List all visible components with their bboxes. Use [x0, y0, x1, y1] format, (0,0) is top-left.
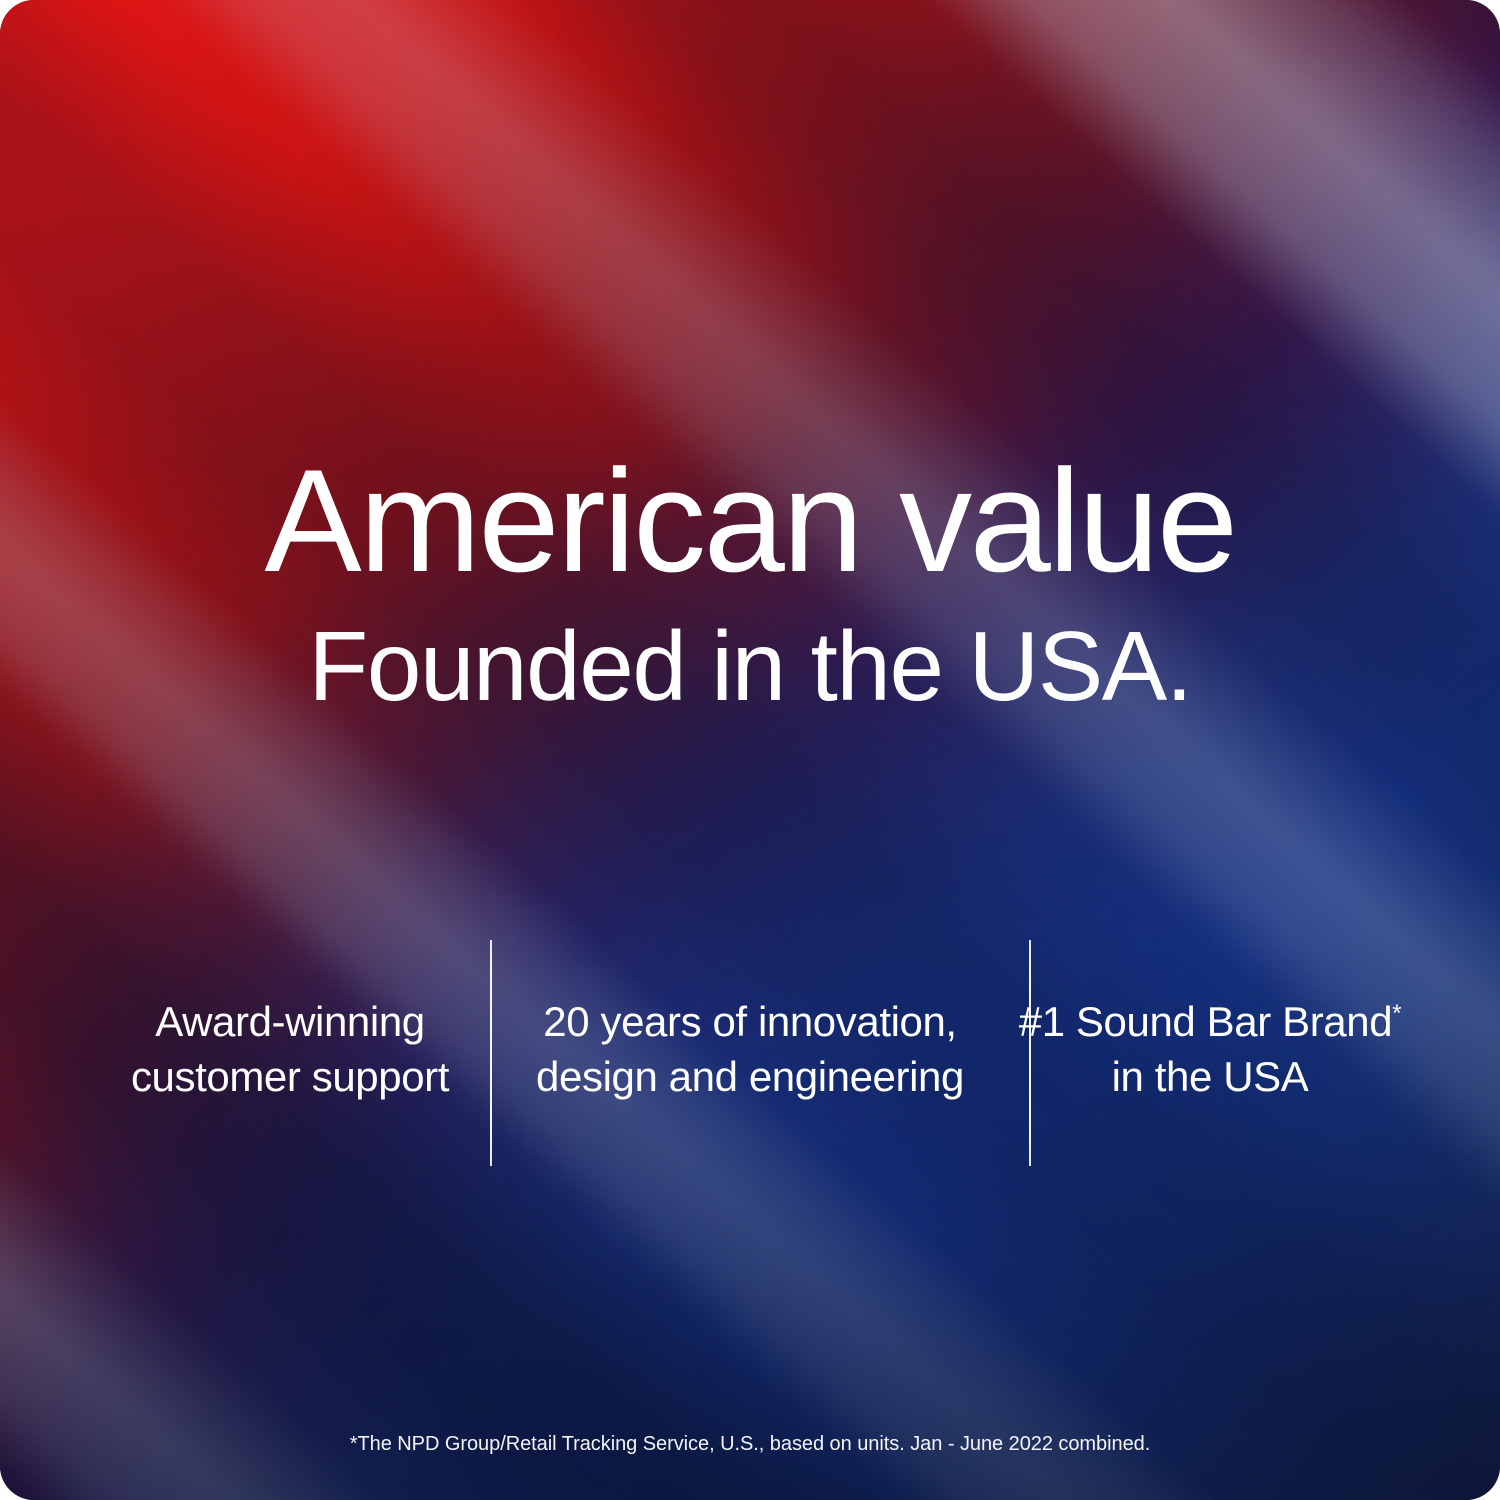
feature-column-2: 20 years of innovation, design and engin…: [520, 940, 980, 1166]
feature-text: Award-winning customer support: [131, 995, 449, 1104]
column-divider-1: [490, 940, 492, 1166]
feature-line-2: design and engineering: [536, 1053, 964, 1100]
feature-line-2: customer support: [131, 1053, 449, 1100]
promo-card: American value Founded in the USA. Award…: [0, 0, 1500, 1500]
feature-columns: Award-winning customer support 20 years …: [60, 940, 1440, 1166]
feature-line-1: Award-winning: [155, 998, 425, 1045]
feature-line-1: #1 Sound Bar Brand: [1019, 998, 1392, 1045]
feature-text: 20 years of innovation, design and engin…: [536, 995, 964, 1104]
feature-column-3: #1 Sound Bar Brand* in the USA: [980, 940, 1440, 1166]
column-divider-2: [1029, 940, 1031, 1166]
feature-line-1: 20 years of innovation,: [543, 998, 956, 1045]
hero-headline: American value: [0, 448, 1500, 594]
hero-subheadline: Founded in the USA.: [0, 617, 1500, 715]
promo-content: American value Founded in the USA. Award…: [0, 0, 1500, 1500]
promo-banner: American value Founded in the USA. Award…: [0, 0, 1500, 1500]
feature-line-2: in the USA: [1112, 1053, 1309, 1100]
footnote-text: *The NPD Group/Retail Tracking Service, …: [0, 1433, 1500, 1456]
footnote-asterisk-marker: *: [1392, 1000, 1401, 1027]
feature-column-1: Award-winning customer support: [60, 940, 520, 1166]
feature-text: #1 Sound Bar Brand* in the USA: [1019, 995, 1402, 1104]
